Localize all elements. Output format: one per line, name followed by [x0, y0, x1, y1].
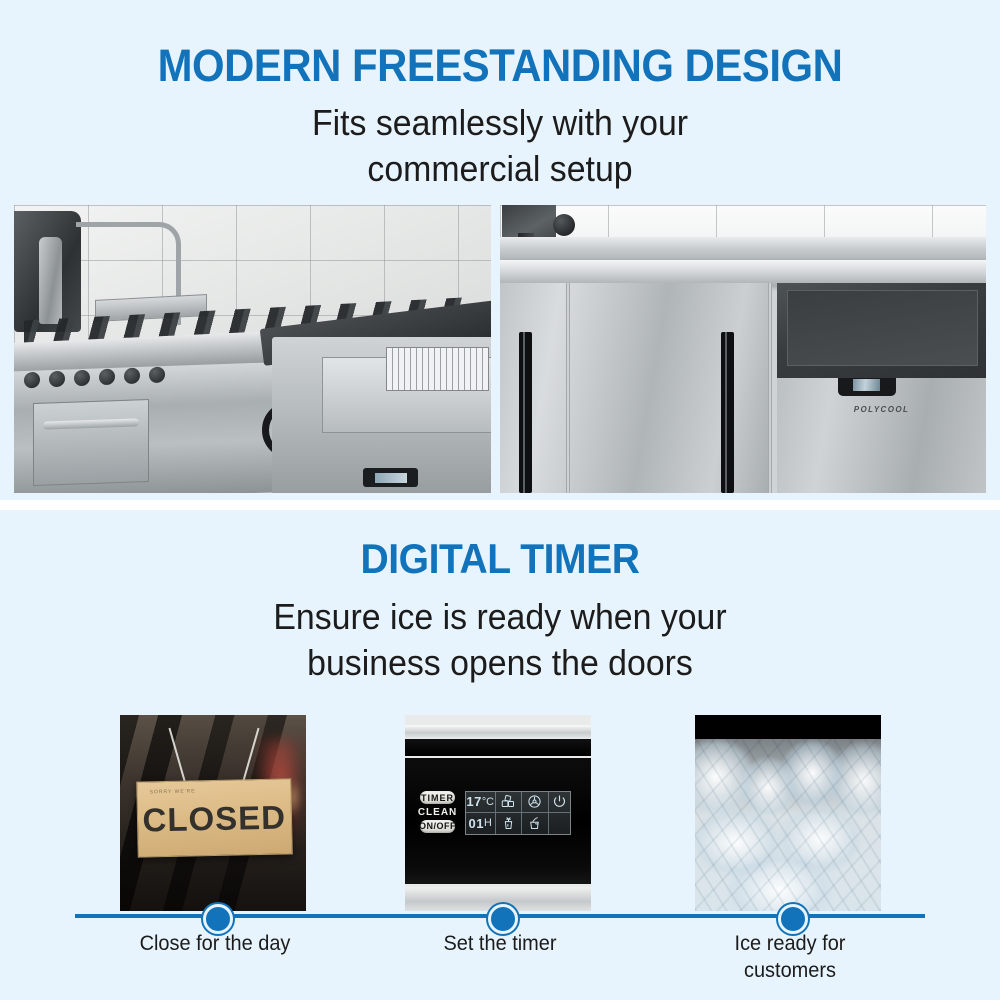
section-one-subheadline-line1: Fits seamlessly with your [30, 100, 970, 146]
panel-face: TIMER CLEAN ON/OFF 17°C [405, 758, 591, 868]
knob-icon [74, 370, 90, 387]
section-two-headline: DIGITAL TIMER [35, 535, 965, 583]
timeline-label-step-3-line2: customers [690, 957, 890, 984]
fridge-door-handle [721, 332, 734, 493]
photo-row: POLYCOOL [14, 205, 986, 493]
clean-label: CLEAN [420, 807, 455, 817]
water-fill-icon [522, 813, 548, 834]
on-off-button[interactable]: ON/OFF [420, 820, 455, 833]
ice-maker-upper-housing [777, 283, 986, 378]
mixer-appliance [14, 211, 81, 332]
product-feature-page: MODERN FREESTANDING DESIGN Fits seamless… [0, 0, 1000, 1000]
card-control-panel: TIMER CLEAN ON/OFF 17°C [405, 715, 591, 911]
ice-maker-housing-panel [787, 290, 977, 366]
lcd-display: 17°C [465, 791, 571, 835]
knob-icon [149, 367, 165, 384]
photo-stainless-fridge-ice-maker: POLYCOOL [500, 205, 986, 493]
section-two-subheadline-line1: Ensure ice is ready when your [30, 594, 970, 640]
temperature-value: 17 [466, 794, 481, 809]
timer-unit: H [484, 817, 492, 829]
knob-icon [99, 369, 115, 386]
fridge-door-seam [768, 283, 772, 493]
full-basket-icon [496, 813, 522, 834]
timeline-cards: SORRY WE'RE CLOSED TIMER CLEAN ON/OFF 17… [0, 715, 1000, 911]
timeline-label-step-3: Ice ready for customers [690, 930, 890, 984]
polycool-brand-label: POLYCOOL [777, 405, 986, 414]
section-one-subheadline: Fits seamlessly with your commercial set… [30, 100, 970, 192]
section-one-headline: MODERN FREESTANDING DESIGN [35, 40, 965, 92]
sign-main-text: CLOSED [137, 798, 290, 839]
ice-machine-control-panel [363, 468, 418, 487]
knob-icon [24, 372, 40, 389]
sign-small-text: SORRY WE'RE [149, 788, 195, 795]
display-timer: 01H [466, 813, 496, 834]
section-one-subheadline-line2: commercial setup [30, 146, 970, 192]
timeline-label-step-2: Set the timer [400, 930, 600, 957]
ice-evaporator-grid [386, 347, 489, 391]
timeline-label-step-1: Close for the day [115, 930, 315, 957]
display-empty-cell [549, 813, 570, 834]
section-two-subheadline-line2: business opens the doors [30, 640, 970, 686]
ice-cubes-icon [496, 792, 522, 813]
knob-icon [124, 368, 140, 385]
section-digital-timer: DIGITAL TIMER Ensure ice is ready when y… [0, 510, 1000, 1000]
fridge-door-handle [519, 332, 532, 493]
timer-value: 01 [469, 816, 484, 831]
timeline-track [75, 914, 925, 918]
timeline-labels: Close for the day Set the timer Ice read… [0, 930, 1000, 1000]
section-two-subheadline: Ensure ice is ready when your business o… [30, 594, 970, 686]
hanging-sign: SORRY WE'RE CLOSED [136, 778, 292, 858]
black-knob-icon [553, 214, 575, 236]
steel-countertop [500, 260, 986, 286]
ice-machine-body [272, 337, 491, 493]
temperature-unit: °C [482, 796, 494, 808]
section-modern-freestanding-design: MODERN FREESTANDING DESIGN Fits seamless… [0, 0, 1000, 500]
panel-top-black-bar [405, 739, 591, 757]
ice-facet-texture [695, 715, 881, 911]
card-closed-sign: SORRY WE'RE CLOSED [120, 715, 306, 911]
panel-display [853, 379, 880, 391]
timeline-label-step-3-line1: Ice ready for [690, 930, 890, 957]
display-temperature: 17°C [466, 792, 496, 813]
fan-icon [522, 792, 548, 813]
knob-icon [49, 371, 65, 388]
card-ice-cubes [695, 715, 881, 911]
power-icon [549, 792, 570, 813]
photo-commercial-kitchen-gas-range [14, 205, 491, 493]
panel-bottom-black-bar [405, 868, 591, 884]
oven-door [33, 399, 149, 486]
timer-button[interactable]: TIMER [420, 791, 455, 804]
fridge-door-seam [566, 283, 570, 493]
panel-top-trim [405, 725, 591, 739]
